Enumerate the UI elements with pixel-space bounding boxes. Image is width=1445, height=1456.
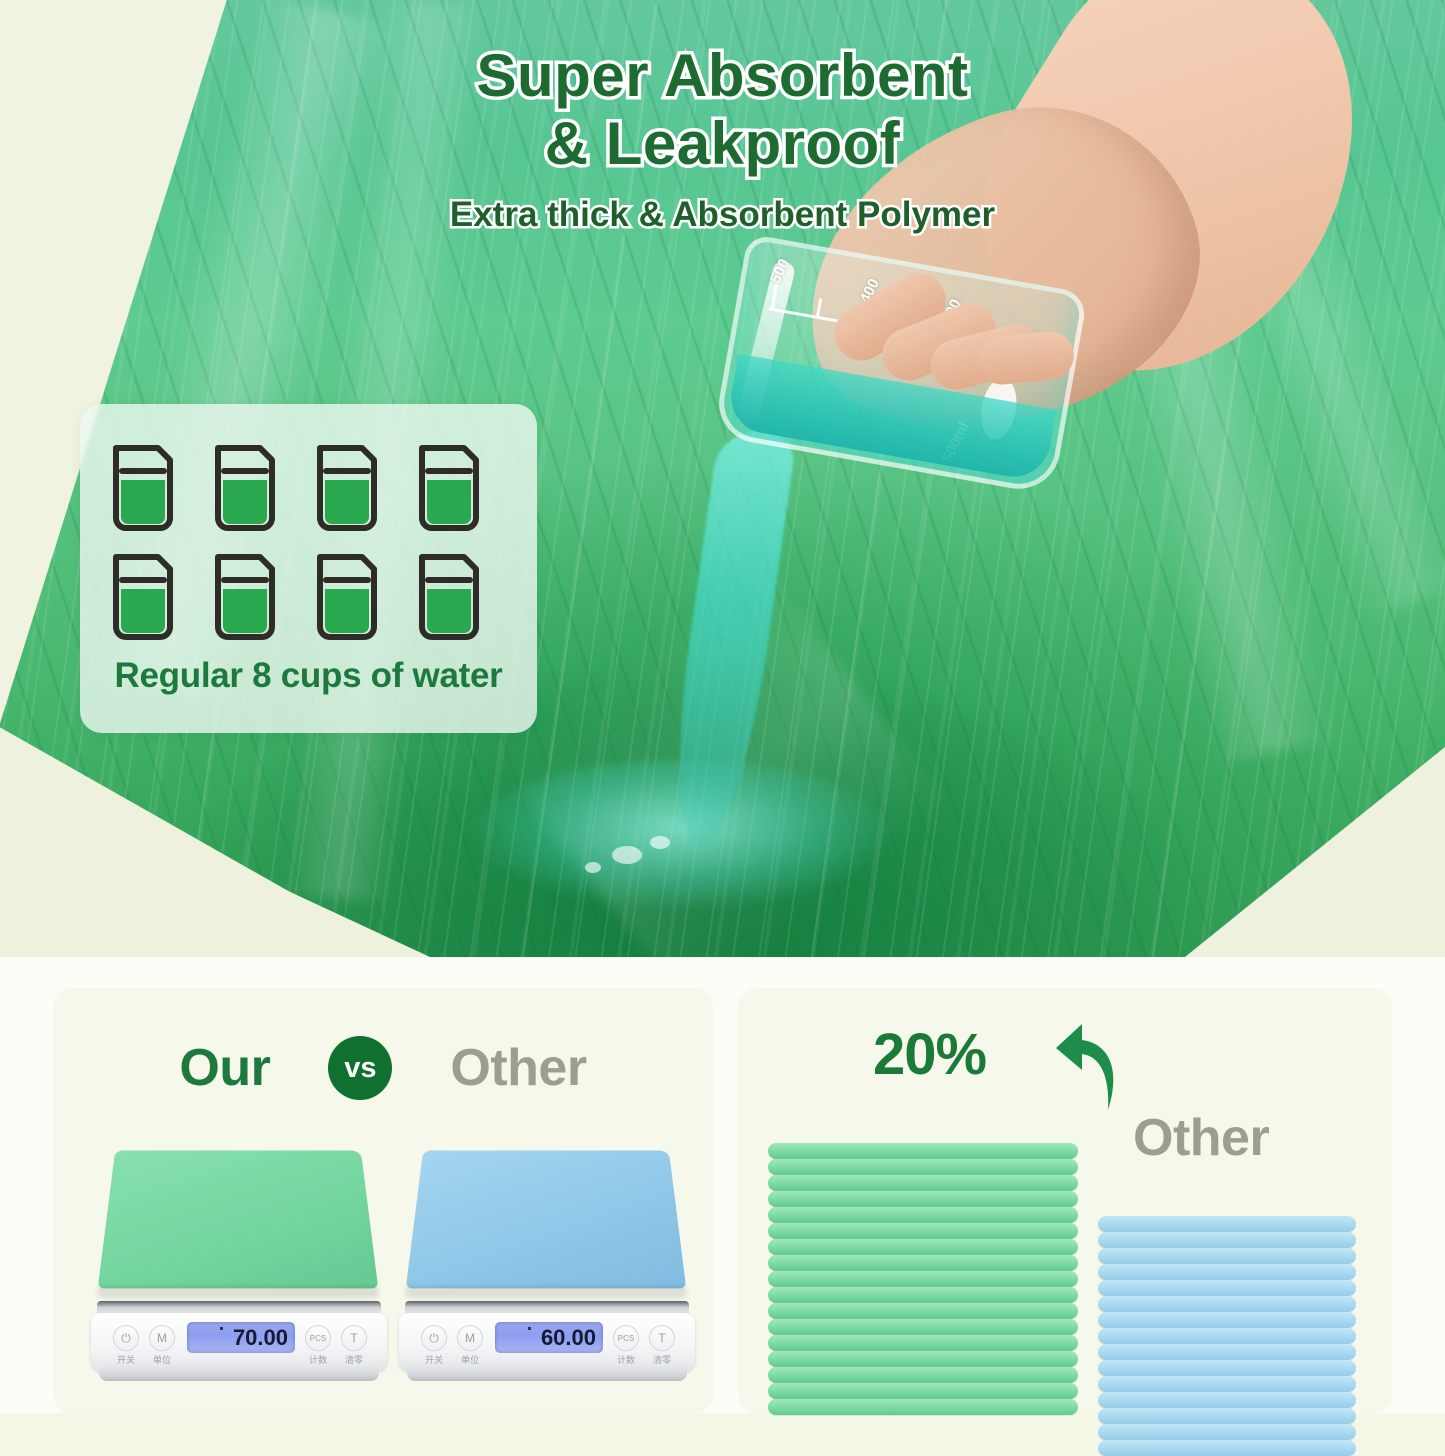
pad-layer	[1098, 1296, 1356, 1312]
water-capacity-badge: Regular 8 cups of water	[80, 404, 537, 733]
beaker-icon	[210, 438, 281, 533]
vs-badge: vs	[328, 1036, 392, 1100]
pad-layer	[768, 1335, 1078, 1351]
unit-icon[interactable]: M	[457, 1325, 483, 1351]
headline-line-1: Super Absorbent	[0, 42, 1445, 110]
hero-section: 500 400 300 100 500ml Super Absorbent & …	[0, 0, 1445, 957]
pad-layer	[768, 1255, 1078, 1271]
scale-face: ⏻ 开关 M 单位 60.00 PCS 计数 T 清零	[399, 1313, 695, 1371]
pad-layer	[768, 1271, 1078, 1287]
scale-body: ⏻ 开关 M 单位 70.00 PCS 计数 T 清零	[89, 1299, 389, 1391]
other-label: Other	[450, 1038, 586, 1098]
pad-layer	[1098, 1392, 1356, 1408]
lcd-indicator-dot	[528, 1327, 531, 1330]
pad-layer	[1098, 1312, 1356, 1328]
pad-layer	[768, 1143, 1078, 1159]
hero-headline-block: Super Absorbent & Leakproof Extra thick …	[0, 42, 1445, 235]
beaker-icon	[312, 438, 383, 533]
other-scale: ⏻ 开关 M 单位 60.00 PCS 计数 T 清零	[397, 1141, 697, 1391]
comparison-header: Our vs Other	[53, 1036, 713, 1100]
bottom-section: Our vs Other ⏻ 开关 M 单位 70.00 PCS 计数	[0, 957, 1445, 1413]
scale-lcd-display: 70.00	[187, 1322, 295, 1353]
pad-layer	[768, 1223, 1078, 1239]
pad-layer	[1098, 1360, 1356, 1376]
power-icon[interactable]: ⏻	[113, 1325, 139, 1351]
pad-layer	[1098, 1264, 1356, 1280]
pad-layer	[1098, 1328, 1356, 1344]
other-pads-stack	[1098, 1216, 1356, 1456]
pad-layer	[1098, 1344, 1356, 1360]
pad-layer	[1098, 1440, 1356, 1456]
bubble	[612, 846, 642, 864]
pad-layer	[1098, 1232, 1356, 1248]
badge-caption: Regular 8 cups of water	[80, 656, 537, 696]
hero-subheadline: Extra thick & Absorbent Polymer	[0, 195, 1445, 235]
other-pad	[406, 1151, 687, 1289]
pad-layer	[768, 1239, 1078, 1255]
our-pads-stack	[768, 1143, 1078, 1415]
percent-label: 20%	[873, 1021, 986, 1088]
pad-layer	[768, 1351, 1078, 1367]
curved-arrow-icon	[1038, 1018, 1128, 1118]
tare-icon[interactable]: T	[649, 1325, 675, 1351]
pad-layer	[768, 1175, 1078, 1191]
other-scale-reading: 60.00	[541, 1325, 596, 1351]
our-scale-reading: 70.00	[233, 1325, 288, 1351]
scale-base	[407, 1365, 687, 1381]
pad-layer	[768, 1367, 1078, 1383]
beaker-icon	[312, 547, 383, 642]
beaker-icon	[414, 547, 485, 642]
beaker-icon	[210, 547, 281, 642]
headline-line-2: & Leakproof	[0, 110, 1445, 178]
scale-face: ⏻ 开关 M 单位 70.00 PCS 计数 T 清零	[91, 1313, 387, 1371]
power-icon[interactable]: ⏻	[421, 1325, 447, 1351]
pad-layer	[1098, 1376, 1356, 1392]
bubble	[650, 836, 670, 849]
lcd-indicator-dot	[220, 1327, 223, 1330]
count-icon[interactable]: PCS	[305, 1325, 331, 1351]
pad-layer	[768, 1319, 1078, 1335]
beaker-icon	[108, 547, 179, 642]
thickness-comparison-panel: 20% Other	[738, 988, 1392, 1413]
count-icon[interactable]: PCS	[613, 1325, 639, 1351]
pad-layer	[1098, 1216, 1356, 1232]
other-label-thickness: Other	[1133, 1108, 1269, 1168]
pad-layer	[1098, 1280, 1356, 1296]
our-scale: ⏻ 开关 M 单位 70.00 PCS 计数 T 清零	[89, 1141, 389, 1391]
pad-layer	[768, 1383, 1078, 1399]
pad-layer	[768, 1159, 1078, 1175]
pad-layer	[768, 1207, 1078, 1223]
unit-icon[interactable]: M	[149, 1325, 175, 1351]
beaker-icon	[108, 438, 179, 533]
pad-layer	[1098, 1424, 1356, 1440]
pad-layer	[768, 1287, 1078, 1303]
pad-layer	[768, 1191, 1078, 1207]
our-pad	[98, 1151, 379, 1289]
beaker-icon	[414, 438, 485, 533]
our-label: Our	[179, 1038, 270, 1098]
pad-layer	[768, 1303, 1078, 1319]
pad-layer	[1098, 1408, 1356, 1424]
scale-lcd-display: 60.00	[495, 1322, 603, 1353]
bubble	[585, 862, 601, 873]
beaker-graduation-tick	[816, 298, 822, 318]
scale-base	[99, 1365, 379, 1381]
pad-layer	[1098, 1248, 1356, 1264]
cups-grid	[108, 438, 485, 654]
weight-comparison-panel: Our vs Other ⏻ 开关 M 单位 70.00 PCS 计数	[53, 988, 713, 1413]
scale-body: ⏻ 开关 M 单位 60.00 PCS 计数 T 清零	[397, 1299, 697, 1391]
tare-icon[interactable]: T	[341, 1325, 367, 1351]
